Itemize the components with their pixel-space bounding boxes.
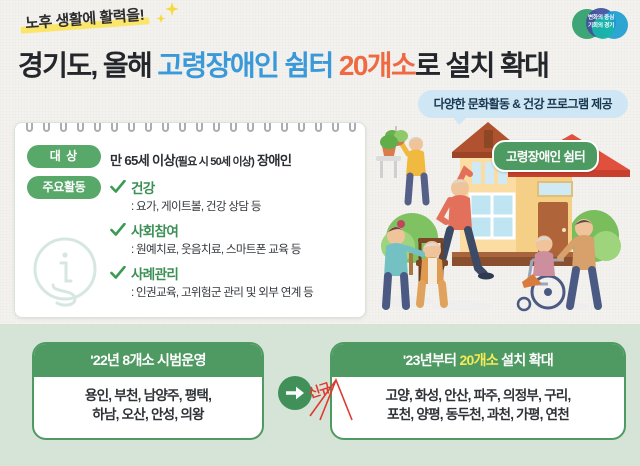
shelter-illustration: 고령장애인 쉼터	[372, 118, 634, 320]
headline-segment-orange: 20개소	[339, 50, 415, 81]
person-gardening	[376, 126, 426, 202]
new-handwritten-mark: 신규	[306, 376, 362, 422]
expansion-phase-cities: 고양, 화성, 안산, 파주, 의정부, 구리, 포천, 양평, 동두천, 과천…	[332, 377, 624, 424]
activity-description: : 원예치료, 웃음치료, 스마트폰 교육 등	[110, 241, 313, 257]
pilot-cities-line-2: 하남, 오산, 안성, 의왕	[42, 405, 254, 424]
check-icon	[110, 180, 126, 194]
target-value-tail: 장애인	[254, 153, 291, 168]
infographic-poster: 노후 생활에 활력을! 변화의 중심 기회의 경기 경기도, 올해 고령장애인 …	[0, 0, 640, 466]
check-icon	[110, 266, 126, 280]
expansion-title-highlight: 20개소	[459, 352, 498, 368]
headline-segment-2: 로 설치 확대	[415, 50, 548, 81]
activity-title-row: 사회참여	[110, 220, 313, 240]
expansion-phase-title: '23년부터 20개소 설치 확대	[332, 344, 624, 377]
activities-list: 건강 : 요가, 게이트볼, 건강 상담 등 사회참여 : 원예치료, 웃음치료…	[101, 176, 313, 306]
details-notepad-card: 대 상 만 65세 이상(필요 시 50세 이상) 장애인 주요활동 건강 : …	[14, 122, 366, 318]
target-value: 만 65세 이상(필요 시 50세 이상) 장애인	[101, 145, 291, 169]
activity-title: 사례관리	[131, 263, 178, 283]
sparkle-icon	[152, 0, 182, 30]
activity-item: 사례관리 : 인권교육, 고위험군 관리 및 외부 연계 등	[110, 263, 313, 300]
pilot-cities-line-1: 용인, 부천, 남양주, 평택,	[42, 386, 254, 405]
activity-title: 건강	[131, 177, 155, 197]
activity-title-row: 건강	[110, 177, 313, 197]
activity-description: : 요가, 게이트볼, 건강 상담 등	[110, 198, 313, 214]
target-row: 대 상 만 65세 이상(필요 시 50세 이상) 장애인	[27, 145, 357, 169]
expansion-title-pre: '23년부터	[403, 352, 460, 368]
pilot-phase-title: '22년 8개소 시범운영	[34, 344, 262, 377]
shelter-sign-label: 고령장애인 쉼터	[492, 140, 599, 172]
bottom-comparison-band: '22년 8개소 시범운영 용인, 부천, 남양주, 평택, 하남, 오산, 안…	[0, 324, 640, 466]
target-value-main: 만 65세 이상	[110, 153, 175, 168]
activity-title: 사회참여	[131, 220, 178, 240]
activity-item: 사회참여 : 원예치료, 웃음치료, 스마트폰 교육 등	[110, 220, 313, 257]
subtitle-speech-bubble: 다양한 문화활동 & 건강 프로그램 제공	[418, 90, 628, 118]
target-label-pill: 대 상	[27, 145, 101, 168]
brand-line-2: 기회의 경기	[572, 22, 630, 30]
expansion-phase-box: '23년부터 20개소 설치 확대 고양, 화성, 안산, 파주, 의정부, 구…	[330, 342, 626, 440]
activity-title-row: 사례관리	[110, 263, 313, 283]
activity-item: 건강 : 요가, 게이트볼, 건강 상담 등	[110, 177, 313, 214]
kicker-text: 노후 생활에 활력을!	[21, 3, 148, 33]
brand-line-1: 변화의 중심	[572, 14, 630, 22]
target-value-paren: (필요 시 50세 이상)	[175, 156, 254, 168]
kicker-banner: 노후 생활에 활력을!	[21, 3, 148, 33]
activities-label-pill: 주요활동	[27, 176, 101, 199]
pilot-phase-cities: 용인, 부천, 남양주, 평택, 하남, 오산, 안성, 의왕	[34, 377, 262, 424]
expansion-cities-line-2: 포천, 양평, 동두천, 과천, 가평, 연천	[340, 405, 616, 424]
headline-segment-1: 경기도, 올해	[18, 50, 157, 81]
expansion-title-post: 설치 확대	[498, 352, 553, 368]
headline-segment-blue: 고령장애인 쉼터	[157, 50, 332, 81]
expansion-cities-line-1: 고양, 화성, 안산, 파주, 의정부, 구리,	[340, 386, 616, 405]
page-title: 경기도, 올해 고령장애인 쉼터 20개소로 설치 확대	[18, 44, 548, 84]
gyeonggi-brand-logo: 변화의 중심 기회의 경기	[572, 8, 630, 40]
spiral-binding	[15, 122, 366, 135]
check-icon	[110, 223, 126, 237]
activities-row: 주요활동 건강 : 요가, 게이트볼, 건강 상담 등	[27, 176, 357, 306]
pilot-phase-box: '22년 8개소 시범운영 용인, 부천, 남양주, 평택, 하남, 오산, 안…	[32, 342, 264, 440]
activity-description: : 인권교육, 고위험군 관리 및 외부 연계 등	[110, 284, 313, 300]
